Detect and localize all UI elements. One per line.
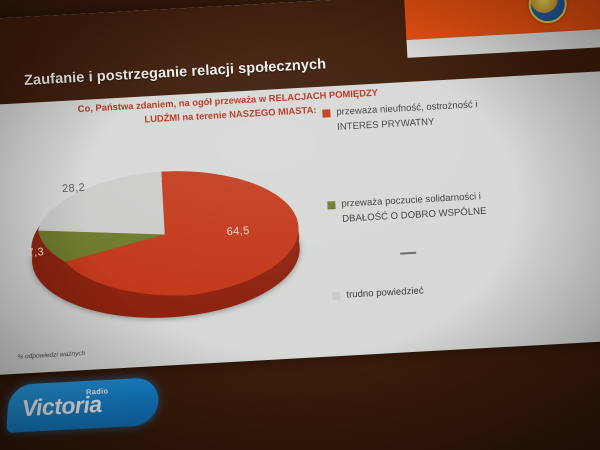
legend-swatch-red-icon xyxy=(322,109,330,117)
pie-label-solidarnosc: 7,3 xyxy=(27,246,44,259)
slide-frame: Zaufanie i postrzeganie relacji społeczn… xyxy=(0,0,600,375)
legend-item-trudno-powiedziec: trudno powiedzieć xyxy=(332,278,546,305)
pie-label-nieufnosc: 64,5 xyxy=(226,225,250,238)
pie-chart: 28,2 7,3 64,5 xyxy=(8,142,317,338)
presentation-slide: Zaufanie i postrzeganie relacji społeczn… xyxy=(0,0,600,375)
legend-item-solidarnosc: przeważa poczucie solidarności i DBAŁOŚĆ… xyxy=(327,187,542,228)
pie-slice-gray xyxy=(35,172,165,242)
pie-label-trudno-powiedziec: 28,2 xyxy=(62,182,86,195)
legend-label-solidarnosc: przeważa poczucie solidarności i DBAŁOŚĆ… xyxy=(341,187,542,228)
projected-slide-photo: Zaufanie i postrzeganie relacji społeczn… xyxy=(0,0,600,450)
radio-victoria-logo: Radio Victoria xyxy=(8,381,158,429)
chart-footnote: % odpowiedzi ważnych xyxy=(17,350,85,361)
legend-swatch-gray-icon xyxy=(332,292,340,300)
legend-label-trudno-powiedziec: trudno powiedzieć xyxy=(346,278,547,304)
legend-swatch-green-icon xyxy=(327,201,335,209)
legend-nieufnosc-line-2: INTERES PRYWATNY xyxy=(337,116,435,132)
logo-victoria-word: Victoria xyxy=(21,391,102,422)
legend-divider xyxy=(400,252,416,255)
